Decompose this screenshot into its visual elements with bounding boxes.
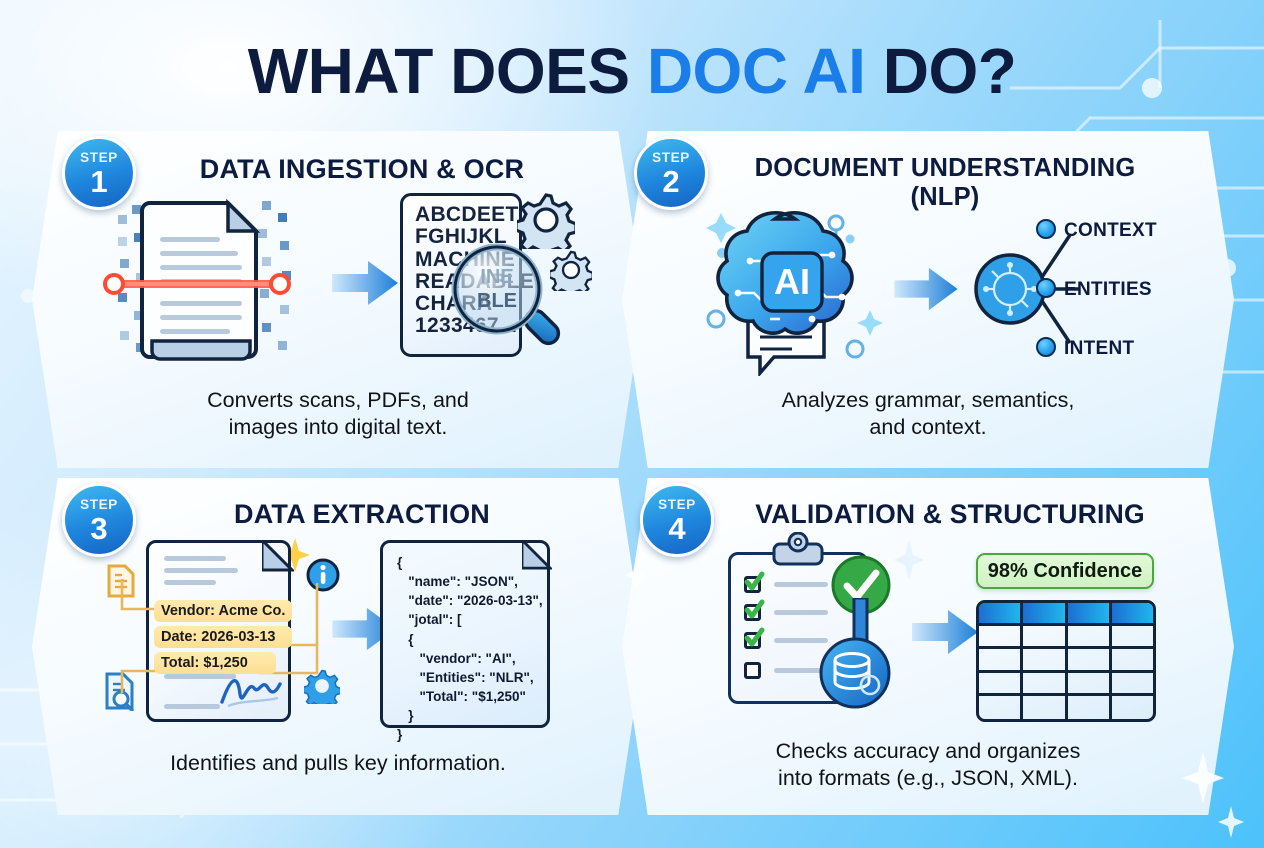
- step-3-badge-number: 3: [90, 513, 107, 544]
- svg-text:INE: INE: [480, 266, 513, 288]
- step-2-caption-line-1: Analyzes grammar, semantics,: [668, 387, 1188, 413]
- structured-table: [976, 600, 1156, 722]
- step-3-badge-word: STEP: [80, 498, 118, 512]
- table-cell: [1023, 649, 1067, 672]
- highlight-field-vendor: Vendor: Acme Co.: [154, 600, 292, 622]
- step-4-caption-line-1: Checks accuracy and organizes: [658, 738, 1198, 764]
- scan-line-icon: [102, 271, 292, 297]
- table-cell: [1023, 673, 1067, 696]
- node-dot-context: [1036, 219, 1056, 239]
- table-cell: [1068, 696, 1112, 719]
- step-2-badge: STEP 2: [634, 136, 708, 210]
- step-3-badge: STEP 3: [62, 483, 136, 557]
- table-cell: [1023, 696, 1067, 719]
- infographic-canvas: WHAT DOES DOC AI DO? DATA INGESTION & OC…: [0, 0, 1264, 848]
- table-cell: [1112, 673, 1153, 696]
- table-cell: [1068, 673, 1112, 696]
- step-4-badge-word: STEP: [658, 498, 696, 512]
- table-cell: [1068, 649, 1112, 672]
- table-cell: [979, 626, 1023, 649]
- step-4-badge-number: 4: [668, 513, 685, 544]
- table-header-cell: [979, 603, 1023, 626]
- json-line: "vendor": "AI",: [397, 649, 537, 668]
- table-row: [979, 649, 1153, 672]
- json-line: }: [397, 725, 537, 744]
- table-header-row: [979, 603, 1153, 626]
- node-label-intent: INTENT: [1064, 338, 1134, 360]
- ai-brain-icon: AI: [700, 201, 890, 376]
- json-line: }: [397, 706, 537, 725]
- table-header-cell: [1023, 603, 1067, 626]
- json-card-fold-icon: [522, 540, 552, 570]
- json-line: "jotal": [: [397, 610, 537, 629]
- table-cell: [979, 673, 1023, 696]
- json-line: "Total": "$1,250": [397, 687, 537, 706]
- table-cell: [1112, 626, 1153, 649]
- node-dot-intent: [1036, 337, 1056, 357]
- step-2-badge-number: 2: [662, 166, 679, 197]
- highlight-field-total: Total: $1,250: [154, 652, 276, 674]
- sparkle-icon: [1218, 806, 1244, 838]
- step-4-caption-line-2: into formats (e.g., JSON, XML).: [658, 765, 1198, 791]
- checklist-line: [774, 610, 828, 615]
- step-1-arrow-icon: [332, 259, 398, 307]
- table-cell: [1112, 649, 1153, 672]
- table-cell: [1068, 626, 1112, 649]
- step-1-badge: STEP 1: [62, 136, 136, 210]
- table-cell: [979, 696, 1023, 719]
- clipboard-clip-icon: [768, 532, 828, 566]
- table-cell: [1023, 626, 1067, 649]
- sparkle-icon: [894, 540, 924, 580]
- step-1-caption-line-2: images into digital text.: [78, 414, 598, 440]
- step-3-caption: Identifies and pulls key information.: [68, 750, 608, 776]
- title-accent: DOC AI: [647, 35, 866, 107]
- database-icon: [818, 636, 892, 710]
- table-header-cell: [1112, 603, 1153, 626]
- step-1-caption-line-1: Converts scans, PDFs, and: [78, 387, 598, 413]
- node-label-context: CONTEXT: [1064, 220, 1157, 242]
- brain-ai-label: AI: [774, 261, 810, 302]
- table-row: [979, 696, 1153, 719]
- table-row: [979, 673, 1153, 696]
- table-header-cell: [1068, 603, 1112, 626]
- gear-large-icon: [517, 191, 575, 249]
- json-line: "name": "JSON",: [397, 572, 537, 591]
- highlight-field-date: Date: 2026-03-13: [154, 626, 292, 648]
- node-dot-entities: [1036, 278, 1056, 298]
- json-line: "Entities": "NLR",: [397, 668, 537, 687]
- svg-text:BLE: BLE: [477, 290, 517, 312]
- sparkle-icon: [624, 560, 648, 590]
- checkmarks-icon: [740, 570, 774, 670]
- title-part-1: WHAT DOES: [248, 35, 647, 107]
- ocr-line: ABCDEET: [415, 204, 509, 226]
- step-4-badge: STEP 4: [640, 483, 714, 557]
- title-part-2: DO?: [865, 35, 1016, 107]
- step-4-content: VALIDATION & STRUCTURING: [622, 478, 1234, 815]
- table-cell: [1112, 696, 1153, 719]
- step-2-arrow-icon: [894, 266, 958, 312]
- step-4-arrow-icon: [912, 608, 978, 656]
- checklist-line: [774, 582, 828, 587]
- step-4-title: VALIDATION & STRUCTURING: [710, 500, 1190, 529]
- node-label-entities: ENTITIES: [1064, 279, 1152, 301]
- step-3-title: DATA EXTRACTION: [142, 500, 582, 529]
- json-line: {: [397, 553, 537, 572]
- sparkle-icon: [1182, 752, 1224, 804]
- step-1-badge-word: STEP: [80, 151, 118, 165]
- step-2-content: DOCUMENT UNDERSTANDING (NLP): [622, 131, 1234, 468]
- step-1-badge-number: 1: [90, 166, 107, 197]
- step-2-badge-word: STEP: [652, 151, 690, 165]
- page-title: WHAT DOES DOC AI DO?: [0, 34, 1264, 108]
- table-row: [979, 626, 1153, 649]
- gear-small-icon: [550, 249, 592, 291]
- step-2-caption-line-2: and context.: [668, 414, 1188, 440]
- table-cell: [979, 649, 1023, 672]
- step-2-title-line-1: DOCUMENT UNDERSTANDING: [710, 155, 1180, 183]
- confidence-badge: 98% Confidence: [976, 553, 1154, 589]
- json-line: "date": "2026-03-13",: [397, 591, 537, 610]
- json-line: {: [397, 630, 537, 649]
- step-1-title: DATA INGESTION & OCR: [142, 155, 582, 184]
